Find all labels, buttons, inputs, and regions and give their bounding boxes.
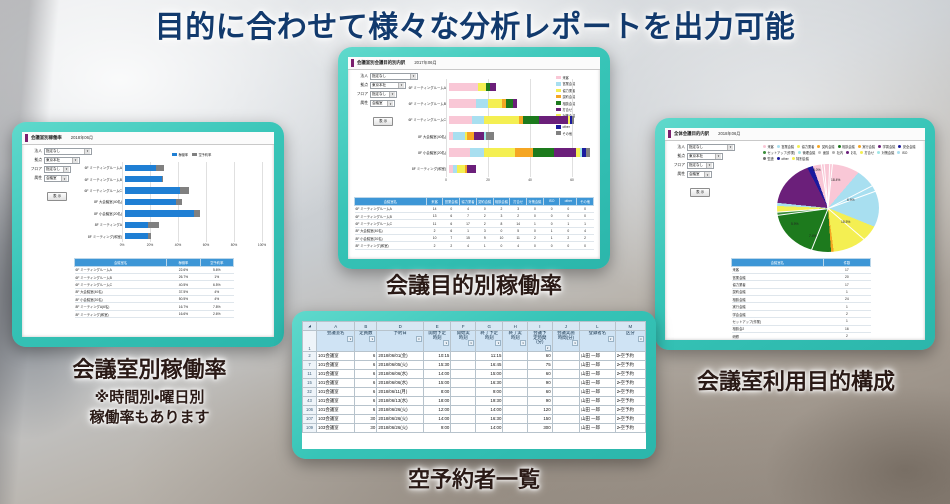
table-cell: 0 xyxy=(543,242,560,249)
spreadsheet-cell[interactable]: 山田 一郎 xyxy=(580,423,616,432)
spreadsheet-cell[interactable] xyxy=(451,387,476,396)
filter-dropdown-icon[interactable]: ▾ xyxy=(572,340,578,346)
spreadsheet-cell[interactable]: 15:00 xyxy=(423,378,450,387)
legend-swatch xyxy=(898,145,901,148)
bar-chart-center: 6F ミーティングルームA6F ミーティングルームB6F ミーティングルームC8… xyxy=(350,79,578,189)
chevron-down-icon: ▾ xyxy=(727,145,733,150)
spreadsheet-cell[interactable] xyxy=(451,396,476,405)
spreadsheet-cell[interactable] xyxy=(503,396,528,405)
spreadsheet-cell[interactable]: 6 xyxy=(355,360,377,369)
spreadsheet-cell[interactable] xyxy=(451,369,476,378)
spreadsheet-cell[interactable]: 2018/06/06(水) xyxy=(377,378,424,387)
chart-bar-segment xyxy=(586,148,590,156)
table-cell: 1% xyxy=(200,273,233,280)
spreadsheet-cell[interactable]: 60 xyxy=(528,369,553,378)
legend-swatch xyxy=(763,151,766,154)
row-header[interactable]: 7 xyxy=(303,360,317,369)
axis-tick-label: 0% xyxy=(120,243,125,247)
chart-category-label: 8F ミーティング(和室) xyxy=(26,234,125,239)
spreadsheet-cell[interactable] xyxy=(552,423,579,432)
tablet-left: 会議室別稼働率 2018年06月 法人 指定なし ▾ 拠点 東京本社 ▾ フロア xyxy=(12,122,284,347)
chart-x-axis: 0204060 xyxy=(446,177,572,189)
legend-swatch xyxy=(860,151,863,154)
chart-category-label: 6F ミーティングルームB xyxy=(26,177,125,182)
display-button[interactable]: 表 示 xyxy=(690,188,710,197)
spreadsheet-cell[interactable]: 2・空予約 xyxy=(615,387,645,396)
filter-select-floor[interactable]: 指定なし ▾ xyxy=(687,162,714,169)
spreadsheet-cell[interactable]: 60 xyxy=(528,351,553,360)
column-header-M[interactable]: M xyxy=(615,322,645,331)
spreadsheet-cell[interactable]: 2018/06/06(水) xyxy=(377,369,424,378)
legend-swatch xyxy=(792,157,795,160)
chart-bar-row: 6F ミーティングルームA xyxy=(350,79,578,95)
table-cell: 1 xyxy=(823,318,870,325)
legend-item: 特別会議 xyxy=(792,156,809,161)
spreadsheet-cell[interactable]: 10:15 xyxy=(423,351,450,360)
table-cell: 相談会議 xyxy=(732,296,824,303)
filter-dropdown-icon[interactable]: ▾ xyxy=(369,336,375,342)
table-cell: セットアップ(作業) xyxy=(732,318,824,325)
spreadsheet-row: 7101会議室62018/06/05(火)15:3016:4575山田 一郎2・… xyxy=(303,360,646,369)
spreadsheet-cell[interactable]: 6 xyxy=(355,378,377,387)
spreadsheet-cell[interactable]: 山田 一郎 xyxy=(580,378,616,387)
chart-bar-row: 8F 小会議室(20名) xyxy=(350,144,578,160)
spreadsheet-cell[interactable]: 101会議室 xyxy=(317,351,355,360)
chart-bar-segment xyxy=(156,165,164,171)
table-cell: 8F ミーティング(和室) xyxy=(355,242,427,249)
spreadsheet-cell[interactable]: 2・空予約 xyxy=(615,360,645,369)
spreadsheet-cell[interactable]: 2・空予約 xyxy=(615,423,645,432)
table-header-cell: 件数 xyxy=(823,259,870,267)
spreadsheet-cell[interactable] xyxy=(503,414,528,423)
spreadsheet-cell[interactable]: 101会議室 xyxy=(317,396,355,405)
chart-bar-row: 8F ミーティング(和室) xyxy=(26,231,270,242)
filter-dropdown-icon[interactable]: ▾ xyxy=(638,336,644,342)
table-cell: 5 xyxy=(510,227,527,234)
chart-bar-track xyxy=(449,112,572,128)
spreadsheet-cell[interactable] xyxy=(503,378,528,387)
table-row: 8F 大会議室(40名)37.5%4% xyxy=(75,288,234,295)
spreadsheet-cell[interactable] xyxy=(552,387,579,396)
filter-dropdown-icon[interactable]: ▾ xyxy=(416,336,422,342)
spreadsheet-cell[interactable]: 2018/06/13(水) xyxy=(377,396,424,405)
spreadsheet-cell[interactable] xyxy=(552,360,579,369)
spreadsheet-cell[interactable]: 山田 一郎 xyxy=(580,387,616,396)
legend-swatch xyxy=(832,151,835,154)
spreadsheet-cell[interactable]: 75 xyxy=(528,360,553,369)
spreadsheet-cell[interactable]: 90 xyxy=(528,378,553,387)
table-cell: 8F 小会議室(20名) xyxy=(355,235,427,242)
spreadsheet-cell[interactable]: 2018/06/01(金) xyxy=(377,351,424,360)
spreadsheet-cell[interactable] xyxy=(451,414,476,423)
spreadsheet-cell[interactable]: 6 xyxy=(355,405,377,414)
spreadsheet-cell[interactable] xyxy=(451,405,476,414)
table-cell: 0 xyxy=(560,227,577,234)
chart-bar-segment xyxy=(449,116,472,124)
spreadsheet-cell[interactable] xyxy=(503,405,528,414)
row-header[interactable]: 15 xyxy=(303,378,317,387)
data-table-right: 会議室名件数来客17営業会議20協力業者17契約会議1相談会議24実行会議1学会… xyxy=(731,258,871,340)
axis-tick-label: 40 xyxy=(528,178,532,182)
filter-dropdown-icon[interactable]: ▾ xyxy=(443,340,449,346)
spreadsheet-cell[interactable]: 19:30 xyxy=(476,396,503,405)
spreadsheet-cell[interactable]: 2・空予約 xyxy=(615,405,645,414)
table-cell: 1 xyxy=(460,227,477,234)
row-header[interactable]: 1 xyxy=(303,331,317,352)
header-cell: 開始実時刻▾ xyxy=(451,331,476,352)
column-header-J[interactable]: J xyxy=(552,322,579,331)
chevron-down-icon: ▾ xyxy=(410,74,416,79)
table-cell: 相談会2 xyxy=(732,325,824,332)
legend-label: 管理会議 xyxy=(803,150,816,155)
spreadsheet-cell[interactable] xyxy=(552,378,579,387)
spreadsheet-cell[interactable]: 101会議室 xyxy=(317,360,355,369)
table-row: セットアップ(作業)1 xyxy=(732,318,871,325)
header-cell: 開始予定時刻▾ xyxy=(423,331,450,352)
filter-select-houjin[interactable]: 指定なし ▾ xyxy=(687,144,735,151)
spreadsheet-row: 109103会議室302018/06/26(火)9:0014:00300山田 一… xyxy=(303,423,646,432)
spreadsheet-cell[interactable] xyxy=(451,423,476,432)
filter-select-zokusei[interactable]: 会議室 ▾ xyxy=(687,171,712,178)
app-header-center: 会議室別会議目的別内訳 2017年06月 xyxy=(348,57,600,70)
spreadsheet-cell[interactable] xyxy=(503,360,528,369)
table-row: 学会会議2 xyxy=(732,310,871,317)
spreadsheet-cell[interactable]: 2018/06/26(火) xyxy=(377,414,424,423)
spreadsheet-cell[interactable]: 2・空予約 xyxy=(615,369,645,378)
legend-item: セットアップ(作業) xyxy=(763,150,795,155)
tablet-bottom: ◢ABDEFGHIJLM1会議室名▾定員数▾予約日▾開始予定時刻▾開始実時刻▾終… xyxy=(292,311,656,459)
chart-bar-segment xyxy=(125,233,148,239)
axis-tick-label: 100% xyxy=(258,243,266,247)
spreadsheet-cell[interactable] xyxy=(503,369,528,378)
spreadsheet-cell[interactable]: 2・空予約 xyxy=(615,378,645,387)
table-cell: 1 xyxy=(543,235,560,242)
table-cell: 6.5% xyxy=(200,281,233,288)
chart-bar-segment xyxy=(125,176,162,182)
spreadsheet-cell[interactable]: 120 xyxy=(528,405,553,414)
filter-dropdown-icon[interactable]: ▾ xyxy=(468,340,474,346)
table-cell: 0 xyxy=(527,212,544,219)
filter-select-kyoten[interactable]: 東京本社 ▾ xyxy=(687,153,723,160)
table-cell: 17 xyxy=(460,220,477,227)
table-row: 協力業者17 xyxy=(732,281,871,288)
table-cell: 0 xyxy=(527,205,544,212)
chart-bar-segment xyxy=(180,187,189,193)
chart-bar-row: 6F ミーティングルームB xyxy=(26,173,270,184)
legend-label: 実行会議 xyxy=(862,144,875,149)
chart-bar-segment xyxy=(449,83,478,91)
table-wrap-right: 会議室名件数来客17営業会議20協力業者17契約会議1相談会議24実行会議1学会… xyxy=(731,258,871,340)
chart-bar-group xyxy=(125,187,262,193)
filter-dropdown-icon[interactable]: ▾ xyxy=(520,340,526,346)
header-cell: 予約日▾ xyxy=(377,331,424,352)
spreadsheet-cell[interactable]: 16:45 xyxy=(476,360,503,369)
screen-center: 会議室別会議目的別内訳 2017年06月 法人 指定なし ▾ 拠点 東京本社 ▾… xyxy=(348,57,600,259)
spreadsheet-cell[interactable]: 101会議室 xyxy=(317,405,355,414)
header-cell: 会議予定時間(分)▾ xyxy=(528,331,553,352)
spreadsheet-cell[interactable]: 60 xyxy=(528,387,553,396)
chart-bar-segment xyxy=(539,116,568,124)
spreadsheet-cell[interactable]: 8:00 xyxy=(423,387,450,396)
table-cell: 11 xyxy=(510,235,527,242)
legend-item: 監査 xyxy=(763,156,774,161)
accent-bar xyxy=(668,130,671,138)
spreadsheet-cell[interactable]: 15:30 xyxy=(423,360,450,369)
row-header[interactable]: 106 xyxy=(303,405,317,414)
pie-slice-label: 6.9% xyxy=(847,198,855,202)
screen-right: 全体会議目的内訳 2018年06月 法人 指定なし ▾ 拠点 東京本社 ▾ フロ… xyxy=(665,128,925,340)
table-cell: 7.8% xyxy=(200,303,233,310)
spreadsheet: ◢ABDEFGHIJLM1会議室名▾定員数▾予約日▾開始予定時刻▾開始実時刻▾終… xyxy=(302,321,646,449)
column-header-L[interactable]: L xyxy=(580,322,616,331)
table-cell: 0 xyxy=(543,220,560,227)
spreadsheet-table: ◢ABDEFGHIJLM1会議室名▾定員数▾予約日▾開始予定時刻▾開始実時刻▾終… xyxy=(302,321,646,433)
table-header-cell: 相談会議 xyxy=(493,198,510,206)
row-header[interactable]: 109 xyxy=(303,423,317,432)
column-header-I[interactable]: I xyxy=(528,322,553,331)
spreadsheet-cell[interactable] xyxy=(552,369,579,378)
legend-label: 社内 xyxy=(837,150,843,155)
spreadsheet-cell[interactable]: 6 xyxy=(355,351,377,360)
spreadsheet-header-row: 1会議室名▾定員数▾予約日▾開始予定時刻▾開始実時刻▾終了予定時刻▾終了実時刻▾… xyxy=(303,331,646,352)
legend-swatch xyxy=(877,151,880,154)
table-header-cell: ISO xyxy=(543,198,560,206)
legend-swatch xyxy=(798,151,801,154)
spreadsheet-cell[interactable] xyxy=(451,351,476,360)
chart-bar-segment xyxy=(554,148,577,156)
spreadsheet-cell[interactable]: 150 xyxy=(528,414,553,423)
header-cell: 終了実時刻▾ xyxy=(503,331,528,352)
table-cell: 2 xyxy=(527,235,544,242)
row-header[interactable]: 32 xyxy=(303,387,317,396)
app-header-right: 全体会議目的内訳 2018年06月 xyxy=(665,128,925,141)
table-row: 6F ミーティングルームC40.5%6.5% xyxy=(75,281,234,288)
data-table-left: 会議室名稼働率空予約率6F ミーティングルームA22.6%5.6%6F ミーティ… xyxy=(74,258,234,318)
spreadsheet-cell[interactable]: 2・空予約 xyxy=(615,414,645,423)
chart-bar-group xyxy=(125,233,262,239)
spreadsheet-cell[interactable]: 30 xyxy=(355,423,377,432)
spreadsheet-cell[interactable] xyxy=(552,414,579,423)
filter-dropdown-icon[interactable]: ▾ xyxy=(347,336,353,342)
caption-left-note2: 稼働率もあります xyxy=(12,407,287,427)
spreadsheet-cell[interactable]: 103会議室 xyxy=(317,423,355,432)
table-cell: 10 xyxy=(493,235,510,242)
legend-item: ISO xyxy=(897,150,907,155)
table-cell: 営業会議 xyxy=(732,273,824,280)
row-header[interactable]: 43 xyxy=(303,396,317,405)
column-header-E[interactable]: E xyxy=(423,322,450,331)
chart-bar-group xyxy=(125,199,262,205)
legend-item: 学習会議 xyxy=(878,144,895,149)
column-header-F[interactable]: F xyxy=(451,322,476,331)
chart-bar-segment xyxy=(449,148,470,156)
spreadsheet-row: 2101会議室62018/06/01(金)10:1511:1560山田 一郎2・… xyxy=(303,351,646,360)
screen-bottom: ◢ABDEFGHIJLM1会議室名▾定員数▾予約日▾開始予定時刻▾開始実時刻▾終… xyxy=(302,321,646,449)
table-cell: 3 xyxy=(493,212,510,219)
table-cell: 3 xyxy=(510,205,527,212)
chart-category-label: 8F 小会議室(20名) xyxy=(26,211,125,216)
spreadsheet-cell[interactable]: 16:30 xyxy=(476,378,503,387)
row-header[interactable]: 11 xyxy=(303,369,317,378)
filter-panel-right: 法人 指定なし ▾ 拠点 東京本社 ▾ フロア 指定なし ▾ xyxy=(670,144,735,198)
column-header-G[interactable]: G xyxy=(476,322,503,331)
table-row: 6F ミーティングルームA22.6%5.6% xyxy=(75,266,234,273)
legend-label: 特別会議 xyxy=(796,156,809,161)
spreadsheet-cell[interactable]: 6 xyxy=(355,369,377,378)
chart-bar-segment xyxy=(125,165,156,171)
spreadsheet-cell[interactable]: 2・空予約 xyxy=(615,351,645,360)
table-cell: 0 xyxy=(527,242,544,249)
filter-dropdown-icon[interactable]: ▾ xyxy=(608,336,614,342)
chart-plot-area: 6F ミーティングルームA6F ミーティングルームB6F ミーティングルームC8… xyxy=(26,162,270,242)
table-cell: 2 xyxy=(510,212,527,219)
spreadsheet-cell[interactable]: 14:00 xyxy=(423,369,450,378)
spreadsheet-cell[interactable]: 101会議室 xyxy=(317,369,355,378)
table-cell: 4 xyxy=(460,242,477,249)
table-cell: 0 xyxy=(527,227,544,234)
chart-bar-segment xyxy=(484,116,519,124)
chart-category-label: 8F 大会議室(40名) xyxy=(350,134,449,139)
spreadsheet-column-header-row: ◢ABDEFGHIJLM xyxy=(303,322,646,331)
legend-item: 安全会議 xyxy=(898,144,915,149)
spreadsheet-cell[interactable]: 山田 一郎 xyxy=(580,414,616,423)
table-row: 8F ミーティング(和室)16.6%2.6% xyxy=(75,310,234,317)
chart-bar-segment xyxy=(474,132,484,140)
chart-category-label: 8F 大会議室(40名) xyxy=(26,199,125,204)
page-title: 目的に合わせて様々な分析レポートを出力可能 xyxy=(0,2,950,46)
filter-dropdown-icon[interactable]: ▾ xyxy=(545,345,551,351)
pie-slice-label: 7.4% xyxy=(809,234,817,238)
table-header-cell: 契約会議 xyxy=(476,198,493,206)
header-cell: 区分▾ xyxy=(615,331,645,352)
app-title: 会議室別稼働率 xyxy=(31,135,62,141)
filter-select-houjin[interactable]: 指定なし ▾ xyxy=(44,148,92,155)
table-cell: 8F ミーティング(和室) xyxy=(75,310,167,317)
table-cell: 2 xyxy=(577,235,594,242)
spreadsheet-cell[interactable]: 2・空予約 xyxy=(615,396,645,405)
filter-value: 指定なし xyxy=(372,74,388,79)
legend-item: 協力業者 xyxy=(797,144,814,149)
spreadsheet-cell[interactable]: 6 xyxy=(355,396,377,405)
spreadsheet-cell[interactable]: 103会議室 xyxy=(317,414,355,423)
legend-label: セットアップ(作業) xyxy=(768,150,796,155)
column-header-H[interactable]: H xyxy=(503,322,528,331)
legend-swatch xyxy=(838,145,841,148)
spreadsheet-cell[interactable]: 12:00 xyxy=(423,405,450,414)
spreadsheet-cell[interactable]: 90 xyxy=(528,396,553,405)
chart-bar-segment xyxy=(194,210,199,216)
filter-value: 会議室 xyxy=(689,172,702,177)
table-cell: 契約会議 xyxy=(732,288,824,295)
spreadsheet-cell[interactable]: 2018/06/05(火) xyxy=(377,360,424,369)
spreadsheet-cell[interactable]: 山田 一郎 xyxy=(580,396,616,405)
spreadsheet-cell[interactable]: 15:00 xyxy=(476,369,503,378)
filter-row-kyoten: 拠点 東京本社 ▾ xyxy=(670,153,735,160)
app-date: 2017年06月 xyxy=(414,60,436,66)
chart-bar-row: 8F 小会議室(20名) xyxy=(26,208,270,219)
spreadsheet-cell[interactable]: 14:00 xyxy=(423,414,450,423)
spreadsheet-cell[interactable]: 山田 一郎 xyxy=(580,405,616,414)
spreadsheet-cell[interactable]: 6 xyxy=(355,387,377,396)
table-cell: 2 xyxy=(560,235,577,242)
select-all-corner[interactable]: ◢ xyxy=(303,322,317,331)
chart-bar-segment xyxy=(125,210,194,216)
axis-tick-label: 60 xyxy=(570,178,574,182)
spreadsheet-cell[interactable]: 300 xyxy=(528,423,553,432)
spreadsheet-cell[interactable]: 14:00 xyxy=(476,423,503,432)
spreadsheet-cell[interactable]: 9:00 xyxy=(423,423,450,432)
spreadsheet-cell[interactable] xyxy=(451,378,476,387)
spreadsheet-cell[interactable] xyxy=(503,351,528,360)
spreadsheet-cell[interactable] xyxy=(552,405,579,414)
spreadsheet-row: 106101会議室62018/06/26(火)12:0014:00120山田 一… xyxy=(303,405,646,414)
spreadsheet-cell[interactable]: 2018/06/26(火) xyxy=(377,405,424,414)
table-cell: 2 xyxy=(426,227,443,234)
spreadsheet-cell[interactable]: 18:00 xyxy=(423,396,450,405)
table-cell: 0 xyxy=(577,242,594,249)
spreadsheet-cell[interactable]: 11:15 xyxy=(476,351,503,360)
spreadsheet-cell[interactable]: 山田 一郎 xyxy=(580,360,616,369)
spreadsheet-cell[interactable]: 16:30 xyxy=(476,414,503,423)
spreadsheet-cell[interactable]: 9:00 xyxy=(476,387,503,396)
caption-bottom: 空予約者一覧 xyxy=(292,468,656,494)
column-header-D[interactable]: D xyxy=(377,322,424,331)
spreadsheet-cell[interactable]: 2018/06/11(月) xyxy=(377,387,424,396)
chart-bar-row: 8F 大会議室(40名) xyxy=(350,128,578,144)
tablet-right: 全体会議目的内訳 2018年06月 法人 指定なし ▾ 拠点 東京本社 ▾ フロ… xyxy=(655,118,935,350)
column-header-A[interactable]: A xyxy=(317,322,355,331)
chart-category-label: 8F ミーティング(和室) xyxy=(350,166,449,171)
column-header-B[interactable]: B xyxy=(355,322,377,331)
filter-dropdown-icon[interactable]: ▾ xyxy=(495,340,501,346)
table-cell: 50.5% xyxy=(167,296,200,303)
table-header-cell: 稼働率 xyxy=(167,259,200,267)
chart-bar-row: 6F ミーティングルームC xyxy=(350,112,578,128)
spreadsheet-cell[interactable]: 101会議室 xyxy=(317,387,355,396)
row-header[interactable]: 2 xyxy=(303,351,317,360)
chart-bar-track xyxy=(449,144,572,160)
spreadsheet-cell[interactable]: 14:00 xyxy=(476,405,503,414)
table-cell: 8F 小会議室(20名) xyxy=(75,296,167,303)
spreadsheet-cell[interactable] xyxy=(503,423,528,432)
table-header-cell: 会議室名 xyxy=(75,259,167,267)
table-cell: 6F ミーティングルームA xyxy=(355,205,427,212)
spreadsheet-cell[interactable]: 101会議室 xyxy=(317,378,355,387)
table-cell: 3 xyxy=(476,227,493,234)
pie-slice-label: 18.4% xyxy=(831,178,840,182)
data-table-center: 会議室名来客営業会議協力業者契約会議相談会議打合せ対策会議ISOotherその他… xyxy=(354,197,594,250)
spreadsheet-cell[interactable]: 山田 一郎 xyxy=(580,369,616,378)
spreadsheet-cell[interactable] xyxy=(503,387,528,396)
chart-bar-track xyxy=(449,95,572,111)
spreadsheet-cell[interactable] xyxy=(451,360,476,369)
legend-swatch xyxy=(897,151,900,154)
spreadsheet-cell[interactable] xyxy=(552,351,579,360)
spreadsheet-cell[interactable]: 2018/06/26(火) xyxy=(377,423,424,432)
spreadsheet-cell[interactable]: 30 xyxy=(355,414,377,423)
row-header[interactable]: 107 xyxy=(303,414,317,423)
table-header-row: 会議室名来客営業会議協力業者契約会議相談会議打合せ対策会議ISOotherその他 xyxy=(355,198,594,206)
table-cell: 1 xyxy=(577,220,594,227)
table-cell: 24 xyxy=(823,296,870,303)
legend-item: 来客 xyxy=(763,144,774,149)
axis-tick-label: 20 xyxy=(486,178,490,182)
spreadsheet-cell[interactable] xyxy=(552,396,579,405)
header-cell: 会議室名▾ xyxy=(317,331,355,352)
spreadsheet-cell[interactable]: 山田 一郎 xyxy=(580,351,616,360)
legend-swatch xyxy=(818,151,821,154)
chevron-down-icon: ▾ xyxy=(704,172,710,177)
